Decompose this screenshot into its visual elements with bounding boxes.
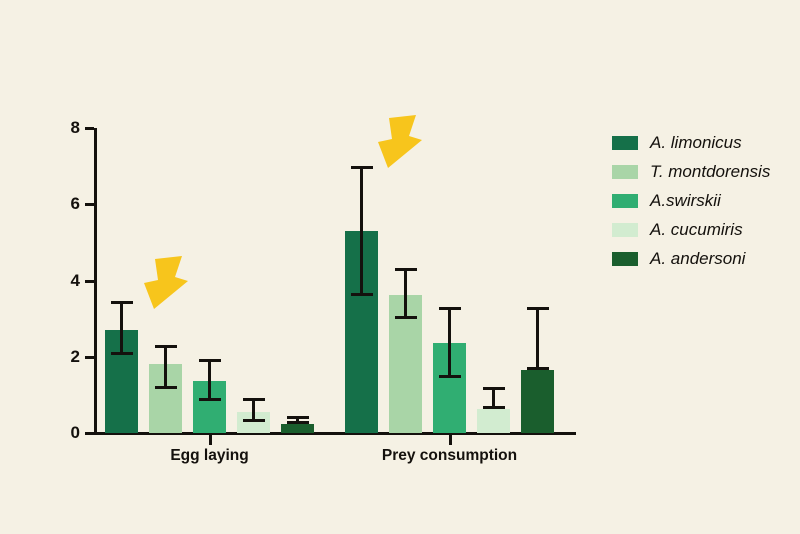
bar: [389, 295, 422, 433]
error-bar-cap-upper: [483, 387, 505, 390]
bar: [149, 364, 182, 433]
error-bar-stem: [536, 307, 539, 370]
bar: [433, 343, 466, 433]
legend-item: A. limonicus: [612, 128, 792, 157]
legend-swatch: [612, 194, 638, 208]
legend-swatch: [612, 252, 638, 266]
bar: [237, 412, 270, 433]
legend-label: A. limonicus: [650, 133, 742, 153]
legend-item: A.swirskii: [612, 186, 792, 215]
legend-item: A. cucumiris: [612, 215, 792, 244]
bar: [345, 231, 378, 433]
bar: [281, 424, 314, 433]
y-axis-tick: [85, 356, 94, 359]
x-axis-tick: [449, 435, 452, 445]
legend-swatch: [612, 223, 638, 237]
bar: [193, 381, 226, 433]
error-bar: [281, 416, 314, 424]
x-axis-category-label: Egg laying: [170, 447, 248, 465]
bar: [477, 409, 510, 433]
legend-swatch: [612, 165, 638, 179]
y-axis-tick-label: 0: [40, 423, 80, 443]
legend-label: A.swirskii: [650, 191, 721, 211]
y-axis-tick: [85, 127, 94, 130]
bar: [521, 370, 554, 433]
bar: [105, 330, 138, 433]
legend: A. limonicusT. montdorensisA.swirskiiA. …: [612, 128, 792, 273]
error-bar-stem: [296, 416, 299, 424]
error-bar: [477, 387, 510, 409]
y-axis-tick-label: 6: [40, 194, 80, 214]
arrow-annotation-prey-consumption: [352, 112, 432, 174]
error-bar-cap-upper: [527, 307, 549, 310]
legend-label: A. cucumiris: [650, 220, 743, 240]
legend-item: A. andersoni: [612, 244, 792, 273]
y-axis-tick-label: 8: [40, 118, 80, 138]
error-bar-cap-upper: [243, 398, 265, 401]
y-axis-tick: [85, 280, 94, 283]
error-bar-cap-upper: [287, 416, 309, 419]
legend-label: T. montdorensis: [650, 162, 770, 182]
y-axis-tick: [85, 203, 94, 206]
y-axis-tick: [85, 432, 94, 435]
x-axis-tick: [209, 435, 212, 445]
bar-chart: Eggs/ consumed larvae/ day 02468 Egg lay…: [0, 0, 800, 534]
legend-label: A. andersoni: [650, 249, 745, 269]
legend-item: T. montdorensis: [612, 157, 792, 186]
error-bar-cap-upper: [155, 345, 177, 348]
y-axis-tick-label: 4: [40, 271, 80, 291]
legend-swatch: [612, 136, 638, 150]
error-bar-cap-upper: [439, 307, 461, 310]
error-bar-cap-upper: [199, 359, 221, 362]
error-bar-stem: [492, 387, 495, 409]
error-bar: [521, 307, 554, 370]
arrow-annotation-egg-laying: [118, 253, 198, 315]
x-axis-category-label: Prey consumption: [382, 447, 517, 465]
error-bar-cap-upper: [395, 268, 417, 271]
y-axis-tick-label: 2: [40, 347, 80, 367]
